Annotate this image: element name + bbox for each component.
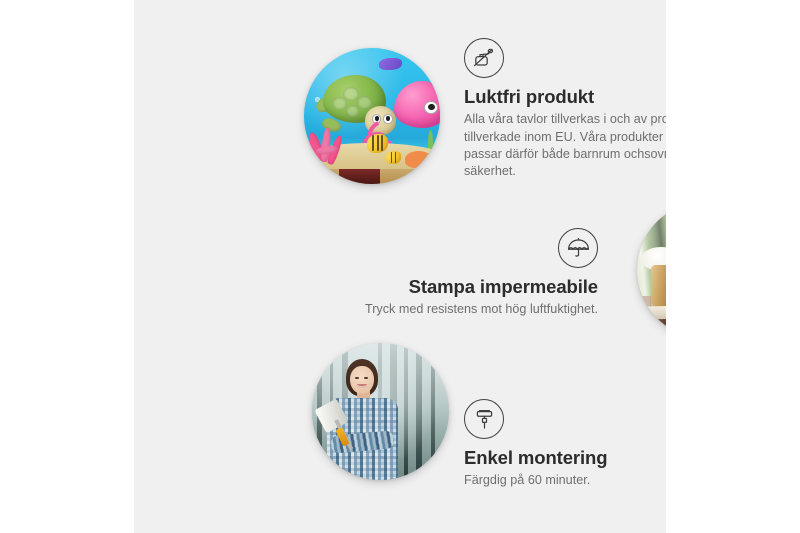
fish-stripe	[395, 152, 396, 162]
woman-smile	[357, 384, 367, 388]
feature-title: Enkel montering	[464, 446, 666, 469]
feature-waterproof: Stampa impermeabile Tryck med resistens …	[308, 228, 598, 319]
woman-face	[350, 366, 373, 393]
paint-roller-icon	[464, 399, 504, 439]
shell-cell	[357, 96, 372, 109]
fish-stripe	[381, 135, 383, 151]
product-photo-woman[interactable]	[312, 343, 449, 480]
feature-body: Tryck med resistens mot hög luftfuktighe…	[308, 301, 598, 318]
gold-vase	[651, 265, 666, 309]
fish-yellow-icon	[367, 134, 389, 153]
woman-eye	[355, 377, 358, 379]
content-panel: Luktfri produkt Alla våra tavlor tillver…	[134, 0, 666, 533]
umbrella-icon	[558, 228, 598, 268]
wooden-vanity	[637, 316, 666, 338]
drawer-seam	[644, 324, 666, 328]
fish-stripe	[372, 135, 374, 151]
feature-title: Stampa impermeabile	[308, 275, 598, 298]
product-photo-bathroom[interactable]	[637, 202, 666, 338]
feature-assembly: Enkel montering Färgdig på 60 minuter.	[464, 399, 666, 490]
fish-stripe	[377, 135, 379, 151]
starfish-icon	[405, 151, 432, 167]
feature-body: Färgdig på 60 minuter.	[464, 472, 666, 489]
feature-body: Alla våra tavlor tillverkas i och av pro…	[464, 111, 666, 181]
no-fragrance-icon	[464, 38, 504, 78]
drawer-handle	[656, 330, 666, 332]
fish-yellow-icon	[386, 151, 401, 163]
woman-eye	[364, 377, 367, 379]
shell-cell	[346, 105, 360, 117]
octopus-eye	[424, 101, 438, 114]
fish-stripe	[391, 152, 392, 162]
shell-cell	[332, 97, 347, 110]
feature-odourless: Luktfri produkt Alla våra tavlor tillver…	[464, 38, 666, 181]
product-photo-sea[interactable]	[304, 48, 440, 184]
screenshot-root: Luktfri produkt Alla våra tavlor tillver…	[0, 0, 800, 533]
feature-title: Luktfri produkt	[464, 85, 666, 108]
fish-purple-icon	[379, 58, 402, 70]
sea-floor-strip	[304, 169, 440, 184]
